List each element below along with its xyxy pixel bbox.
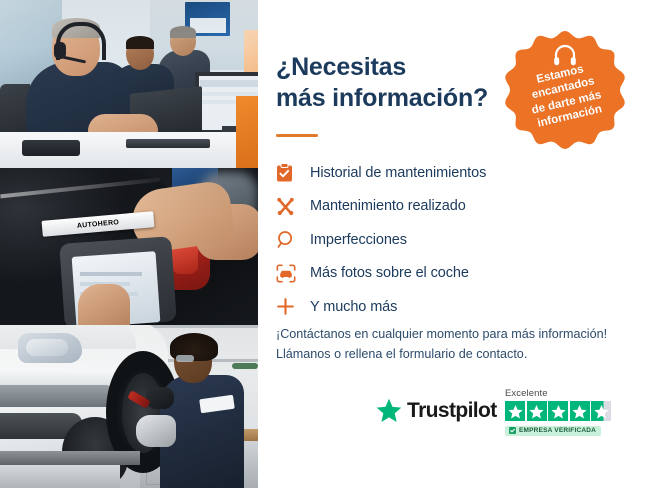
support-badge: Estamos encantados de darte más informac… [499, 27, 631, 159]
technician-hand-holding-tablet [78, 284, 130, 325]
car-grille-upper [0, 385, 114, 407]
star-1 [505, 401, 525, 421]
feature-item-historial[interactable]: Historial de mantenimientos [276, 156, 628, 190]
verified-badge: EMPRESA VERIFICADA [505, 426, 601, 436]
content-panel: ¿Necesitas más información? Estamos enca… [258, 0, 650, 488]
contact-line-2: Llámanos o rellena el formulario de cont… [276, 345, 636, 365]
agent2-hair [126, 36, 154, 49]
star-5 [591, 401, 611, 421]
trustpilot-rating: Excelente [505, 388, 611, 439]
magnifier-icon [276, 230, 310, 249]
workshop-shelf-top [146, 325, 258, 328]
feature-label: Mantenimiento realizado [310, 198, 466, 214]
trustpilot-wordmark: Trustpilot [407, 399, 497, 423]
orange-panel-front [236, 96, 258, 168]
star-3 [548, 401, 568, 421]
lift-arm [0, 451, 140, 465]
trustpilot-widget[interactable]: Trustpilot Excelente [376, 388, 646, 444]
agent3-hair [170, 26, 196, 38]
feature-label: Y mucho más [310, 299, 397, 315]
photo-mechanic-lift [0, 325, 258, 488]
star-rating [505, 401, 611, 421]
page-title: ¿Necesitas más información? [276, 52, 506, 114]
star-2 [527, 401, 547, 421]
page-title-line-2: más información? [276, 83, 506, 114]
mechanic-glove-upper [146, 387, 174, 409]
title-divider [276, 134, 318, 137]
contact-line-1: ¡Contáctanos en cualquier momento para m… [276, 325, 636, 345]
laptop-base [126, 139, 210, 148]
feature-item-mas[interactable]: Y mucho más [276, 290, 628, 324]
promo-banner: AUTOHERO [0, 0, 650, 488]
monitor-toolbar [200, 80, 258, 87]
crossed-tools-icon [276, 197, 310, 216]
car-scan-icon [276, 264, 310, 283]
clipboard-check-icon [276, 163, 310, 182]
rating-label: Excelente [505, 388, 611, 399]
contact-text: ¡Contáctanos en cualquier momento para m… [276, 325, 636, 364]
page-title-line-1: ¿Necesitas [276, 52, 506, 83]
photo-call-centre [0, 0, 258, 168]
mechanic-glove [136, 415, 176, 447]
verified-label: EMPRESA VERIFICADA [519, 427, 596, 434]
feature-label: Imperfecciones [310, 232, 407, 248]
trustpilot-logo: Trustpilot [376, 398, 497, 423]
feature-item-imperfecciones[interactable]: Imperfecciones [276, 223, 628, 257]
green-hose [232, 363, 258, 369]
desk-tablet [22, 140, 80, 156]
feature-label: Más fotos sobre el coche [310, 265, 469, 281]
photo-strip: AUTOHERO [0, 0, 258, 488]
lift-base [0, 465, 120, 488]
feature-label: Historial de mantenimientos [310, 165, 486, 181]
star-4 [570, 401, 590, 421]
check-icon [509, 427, 516, 434]
feature-list: Historial de mantenimientos Mantenimient… [276, 156, 628, 324]
headlight-inner [26, 339, 68, 356]
feature-item-mantenimiento[interactable]: Mantenimiento realizado [276, 190, 628, 224]
photo-ruler-inspection: AUTOHERO [0, 168, 258, 325]
feature-item-fotos[interactable]: Más fotos sobre el coche [276, 257, 628, 291]
tablet-screen-line-1 [80, 272, 142, 276]
safety-glasses [176, 355, 194, 362]
plus-icon [276, 297, 310, 316]
trustpilot-star-icon [376, 398, 402, 423]
